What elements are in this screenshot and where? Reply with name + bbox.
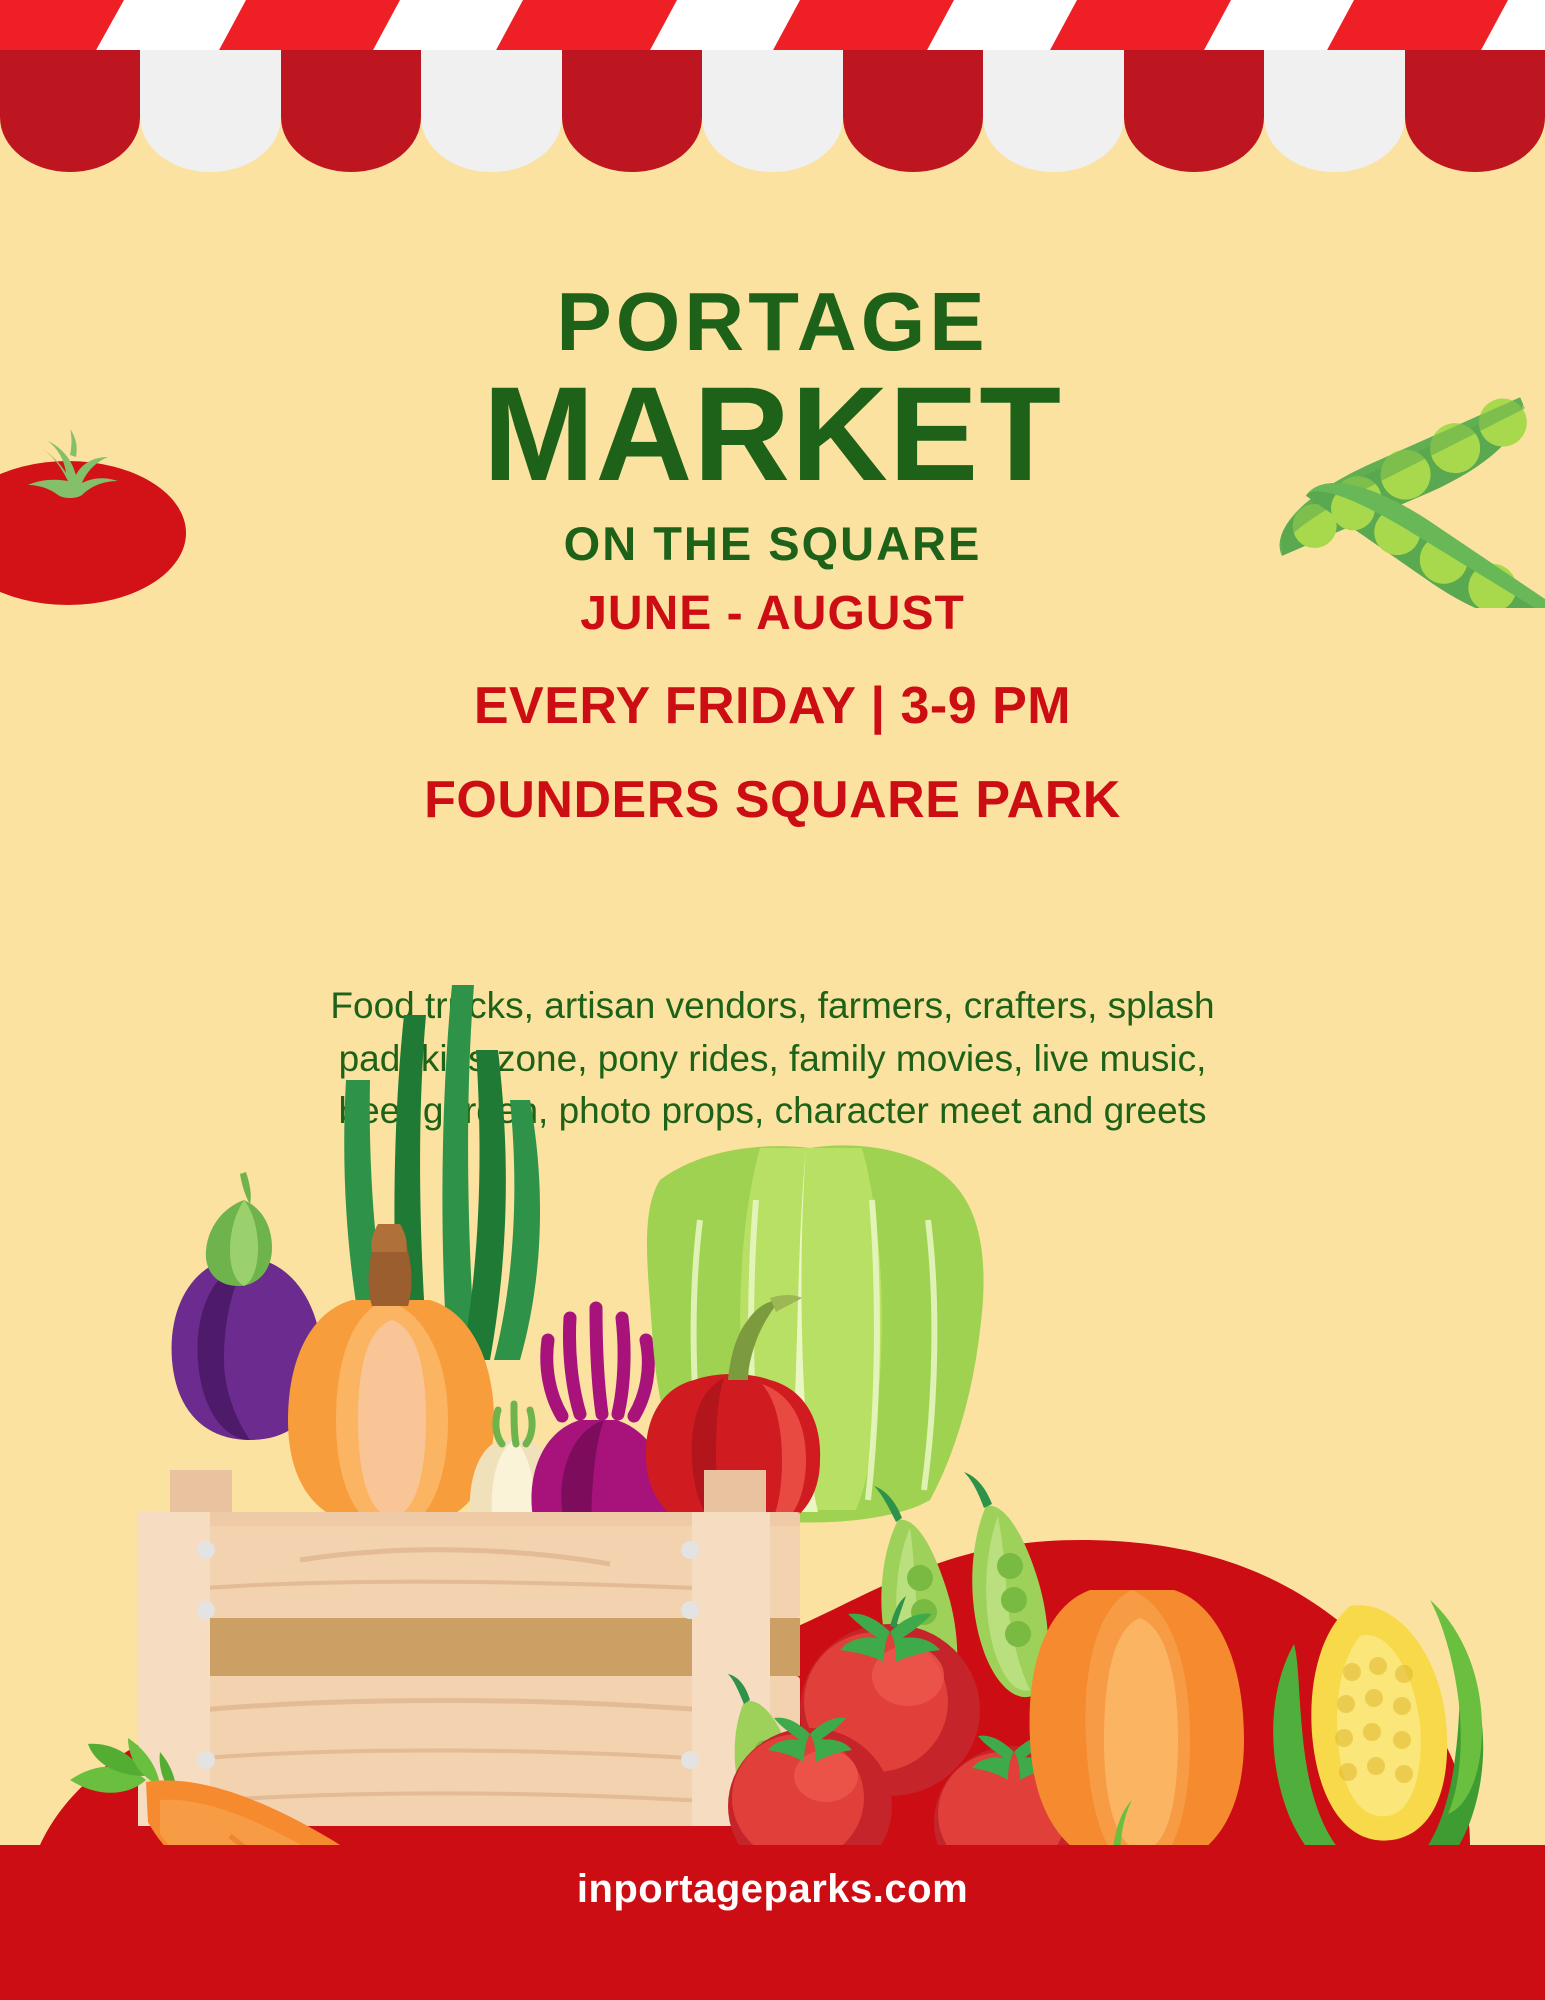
- awning-scallop: [562, 50, 702, 172]
- awning-scallop: [702, 50, 842, 172]
- footer-bar: inportageparks.com: [0, 1845, 1545, 2000]
- event-dates: JUNE - AUGUST: [0, 588, 1545, 640]
- striped-awning: [0, 0, 1545, 180]
- page-subtitle: ON THE SQUARE: [0, 520, 1545, 567]
- market-flyer-poster: PORTAGE MARKET ON THE SQUARE JUNE - AUGU…: [0, 0, 1545, 2000]
- awning-scallop: [843, 50, 983, 172]
- wooden-crate-icon: [138, 1470, 800, 1826]
- awning-scallop: [1405, 50, 1545, 172]
- vegetable-crate-illustration: [0, 800, 1545, 2000]
- awning-scallop: [140, 50, 280, 172]
- event-schedule: EVERY FRIDAY | 3-9 PM: [0, 678, 1545, 734]
- page-title-line2: MARKET: [0, 367, 1545, 504]
- awning-scallop-row: [0, 50, 1545, 180]
- awning-top-stripe-icon: [0, 0, 1545, 52]
- awning-scallop: [281, 50, 421, 172]
- page-title-line1: PORTAGE: [0, 280, 1545, 363]
- awning-scallop: [983, 50, 1123, 172]
- title-block: PORTAGE MARKET ON THE SQUARE: [0, 280, 1545, 567]
- event-info-block: JUNE - AUGUST EVERY FRIDAY | 3-9 PM FOUN…: [0, 588, 1545, 828]
- awning-scallop: [1124, 50, 1264, 172]
- website-url[interactable]: inportageparks.com: [577, 1867, 968, 1912]
- awning-scallop: [1264, 50, 1404, 172]
- awning-scallop: [421, 50, 561, 172]
- orange-squash-icon: [1030, 1590, 1245, 1870]
- awning-scallop: [0, 50, 140, 172]
